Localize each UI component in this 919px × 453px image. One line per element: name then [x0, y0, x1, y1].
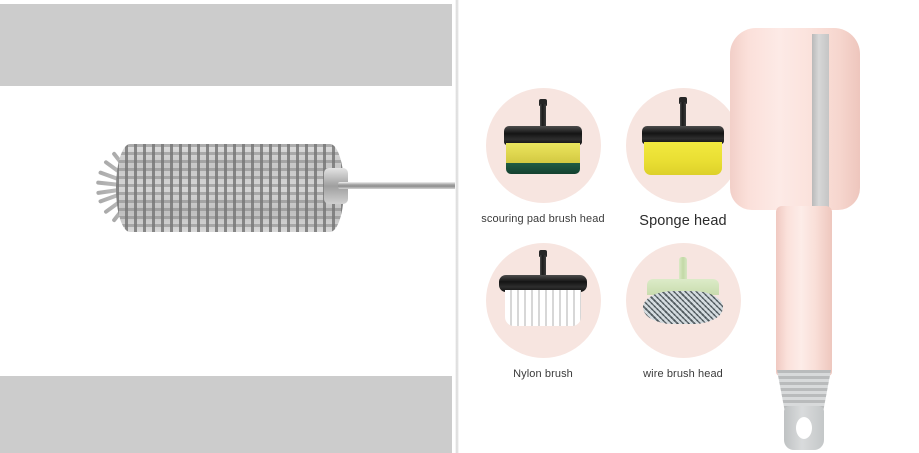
- drive-stem: [540, 255, 546, 277]
- steel-wire-mesh: [643, 291, 723, 324]
- bottle-brush-product: [80, 138, 425, 238]
- yellow-sponge-body: [644, 142, 722, 175]
- white-nylon-bristles: [505, 290, 581, 326]
- brush-head-label: scouring pad brush head: [479, 213, 607, 225]
- yellow-sponge-layer: [506, 143, 580, 165]
- device-hanging-tab: [784, 406, 824, 450]
- brush-head-item-nylon: Nylon brush: [479, 243, 607, 380]
- brush-metal-shaft: [338, 182, 457, 189]
- drive-stem: [680, 102, 686, 128]
- brush-head-label: Nylon brush: [479, 368, 607, 380]
- nylon-brush-icon: [486, 243, 601, 358]
- handheld-electric-cleaning-brush: [714, 28, 904, 428]
- product-image-canvas: scouring pad brush head Sponge head: [0, 0, 919, 453]
- brush-bristle-body: [116, 144, 344, 232]
- device-motor-housing: [730, 28, 860, 210]
- letterbox-band-top: [0, 4, 452, 86]
- right-product-panel: scouring pad brush head Sponge head: [459, 0, 919, 453]
- device-handle: [776, 206, 832, 376]
- device-accent-band: [812, 34, 829, 210]
- device-ribbed-end-cap: [777, 370, 831, 410]
- drive-stem: [540, 104, 546, 128]
- brush-head-grid: scouring pad brush head Sponge head: [479, 88, 744, 388]
- left-product-panel: [0, 0, 457, 453]
- brush-head-item-scouring-pad: scouring pad brush head: [479, 88, 607, 225]
- green-scouring-layer: [506, 163, 580, 174]
- letterbox-band-bottom: [0, 376, 452, 453]
- scouring-pad-brush-head-icon: [486, 88, 601, 203]
